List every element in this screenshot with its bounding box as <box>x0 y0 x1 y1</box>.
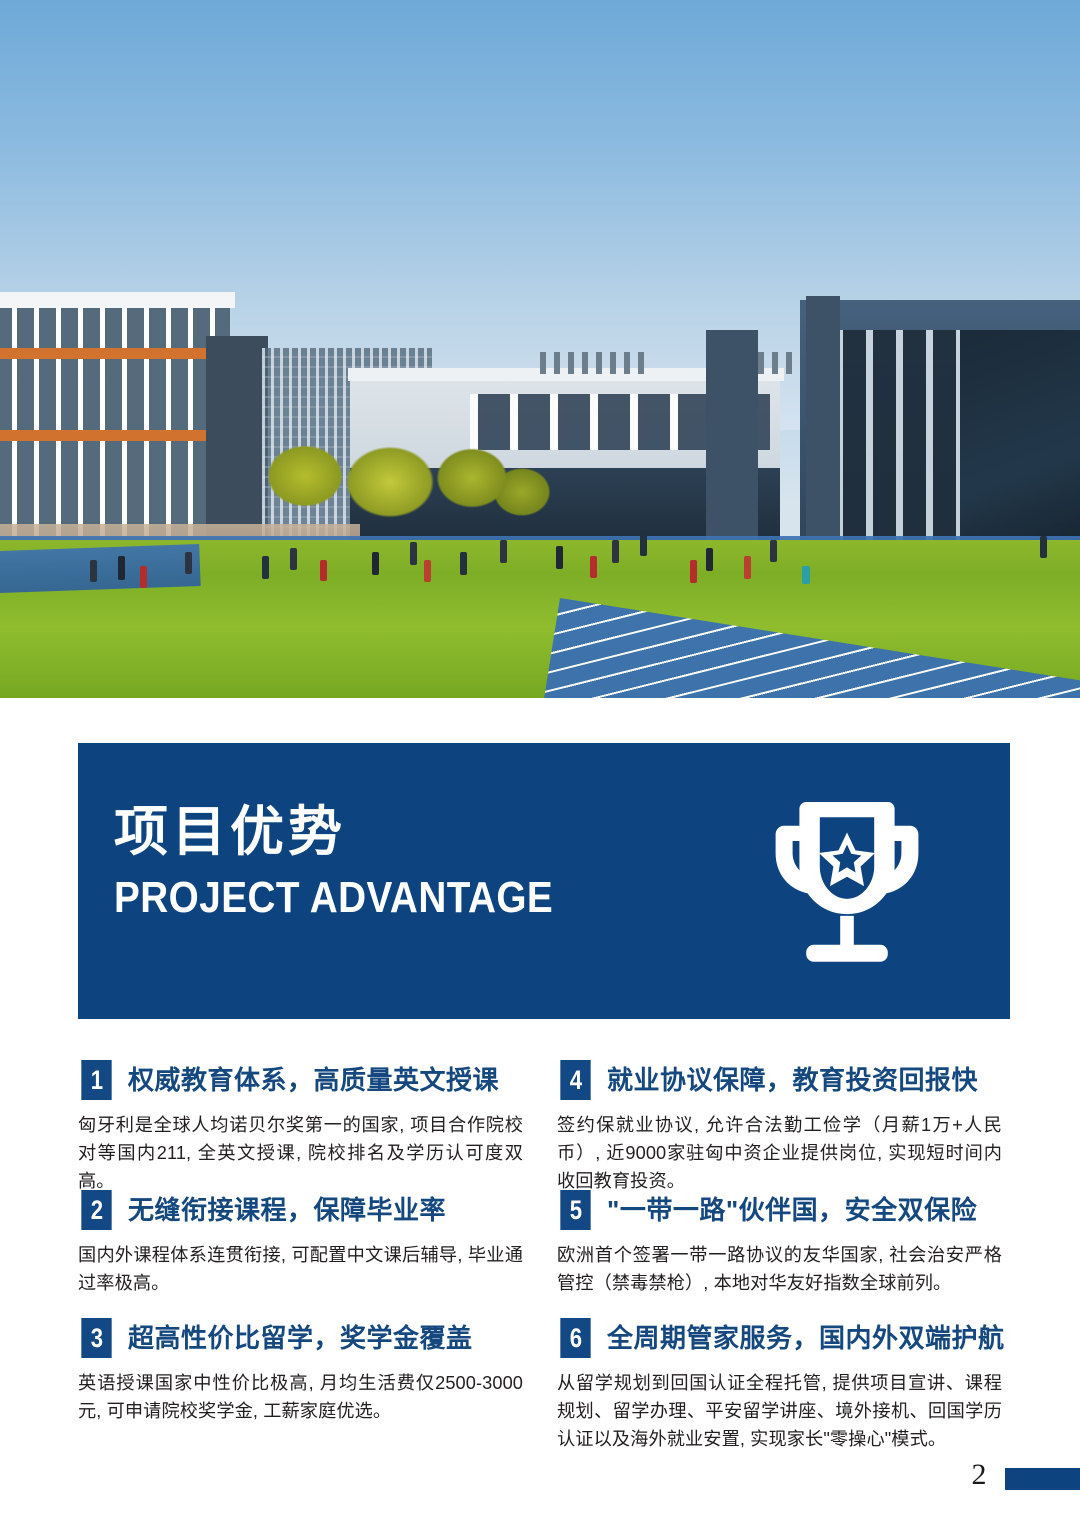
person <box>500 540 507 563</box>
person <box>590 556 597 578</box>
building-right-dark-wing <box>960 330 1080 560</box>
feature-item-2: 2 无缝衔接课程，保障毕业率 国内外课程体系连贯衔接, 可配置中文课后辅导, 毕… <box>78 1190 523 1297</box>
feature-item-1: 1 权威教育体系，高质量英文授课 匈牙利是全球人均诺贝尔奖第一的国家, 项目合作… <box>78 1060 523 1196</box>
building-left-band-2 <box>0 430 230 441</box>
feature-number-badge: 3 <box>81 1318 111 1358</box>
person <box>460 552 467 575</box>
feature-header: 3 超高性价比留学，奖学金覆盖 <box>78 1318 523 1358</box>
feature-number-badge: 5 <box>560 1190 590 1230</box>
feature-body: 从留学规划到回国认证全程托管, 提供项目宣讲、课程规划、留学办理、平安留学讲座、… <box>557 1369 1002 1454</box>
person <box>372 552 379 575</box>
feature-body: 英语授课国家中性价比极高, 月均生活费仅2500-3000元, 可申请院校奖学金… <box>78 1369 523 1425</box>
person <box>690 560 697 583</box>
feature-number-badge: 1 <box>81 1060 111 1100</box>
person <box>640 534 647 556</box>
building-pillar-a <box>706 330 758 560</box>
hero-photo <box>0 0 1080 698</box>
banner-title-chinese: 项目优势 <box>114 805 346 859</box>
person <box>744 556 751 579</box>
person <box>556 546 563 569</box>
feature-item-6: 6 全周期管家服务，国内外双端护航 从留学规划到回国认证全程托管, 提供项目宣讲… <box>557 1318 1002 1454</box>
feature-title: 全周期管家服务，国内外双端护航 <box>607 1318 1005 1358</box>
feature-item-4: 4 就业协议保障，教育投资回报快 签约保就业协议, 允许合法勤工俭学（月薪1万+… <box>557 1060 1002 1196</box>
building-pillar-b <box>806 296 840 558</box>
trophy-icon <box>762 791 932 971</box>
person <box>1040 536 1047 558</box>
feature-body: 国内外课程体系连贯衔接, 可配置中文课后辅导, 毕业通过率极高。 <box>78 1241 523 1297</box>
person <box>802 566 810 584</box>
person <box>185 552 192 574</box>
feature-number-badge: 4 <box>560 1060 590 1100</box>
project-advantage-banner: 项目优势 PROJECT ADVANTAGE <box>78 743 1010 1019</box>
person <box>424 560 431 582</box>
person <box>118 556 125 580</box>
feature-number-badge: 2 <box>81 1190 111 1230</box>
building-left-glass <box>0 300 230 536</box>
feature-body: 欧洲首个签署一带一路协议的友华国家, 社会治安严格管控（禁毒禁枪）, 本地对华友… <box>557 1241 1002 1297</box>
feature-body: 匈牙利是全球人均诺贝尔奖第一的国家, 项目合作院校对等国内211, 全英文授课,… <box>78 1111 523 1196</box>
feature-title: 无缝衔接课程，保障毕业率 <box>128 1190 446 1230</box>
feature-header: 2 无缝衔接课程，保障毕业率 <box>78 1190 523 1230</box>
page-number: 2 <box>962 1458 996 1492</box>
person <box>290 548 297 570</box>
feature-title: 就业协议保障，教育投资回报快 <box>607 1060 978 1100</box>
feature-title: "一带一路"伙伴国，安全双保险 <box>607 1190 977 1230</box>
feature-grid: 1 权威教育体系，高质量英文授课 匈牙利是全球人均诺贝尔奖第一的国家, 项目合作… <box>0 1060 1080 1460</box>
feature-title: 权威教育体系，高质量英文授课 <box>128 1060 499 1100</box>
feature-header: 1 权威教育体系，高质量英文授课 <box>78 1060 523 1100</box>
person <box>140 566 147 588</box>
feature-body: 签约保就业协议, 允许合法勤工俭学（月薪1万+人民币）, 近9000家驻匈中资企… <box>557 1111 1002 1196</box>
feature-item-3: 3 超高性价比留学，奖学金覆盖 英语授课国家中性价比极高, 月均生活费仅2500… <box>78 1318 523 1425</box>
rooftop-equipment-a <box>540 352 650 374</box>
person <box>706 548 713 571</box>
feature-header: 5 "一带一路"伙伴国，安全双保险 <box>557 1190 1002 1230</box>
running-track-left <box>0 544 201 594</box>
feature-title: 超高性价比留学，奖学金覆盖 <box>128 1318 473 1358</box>
feature-header: 4 就业协议保障，教育投资回报快 <box>557 1060 1002 1100</box>
building-left-roof <box>0 292 235 308</box>
person <box>320 560 327 581</box>
footer-accent-bar <box>1005 1468 1080 1490</box>
person <box>612 540 619 563</box>
person <box>770 540 777 562</box>
banner-title-english: PROJECT ADVANTAGE <box>114 876 553 920</box>
person <box>90 560 97 582</box>
building-left-band-1 <box>0 348 230 359</box>
feature-item-5: 5 "一带一路"伙伴国，安全双保险 欧洲首个签署一带一路协议的友华国家, 社会治… <box>557 1190 1002 1297</box>
person <box>262 556 269 579</box>
feature-number-badge: 6 <box>560 1318 590 1358</box>
person <box>410 542 417 565</box>
feature-header: 6 全周期管家服务，国内外双端护航 <box>557 1318 1002 1358</box>
